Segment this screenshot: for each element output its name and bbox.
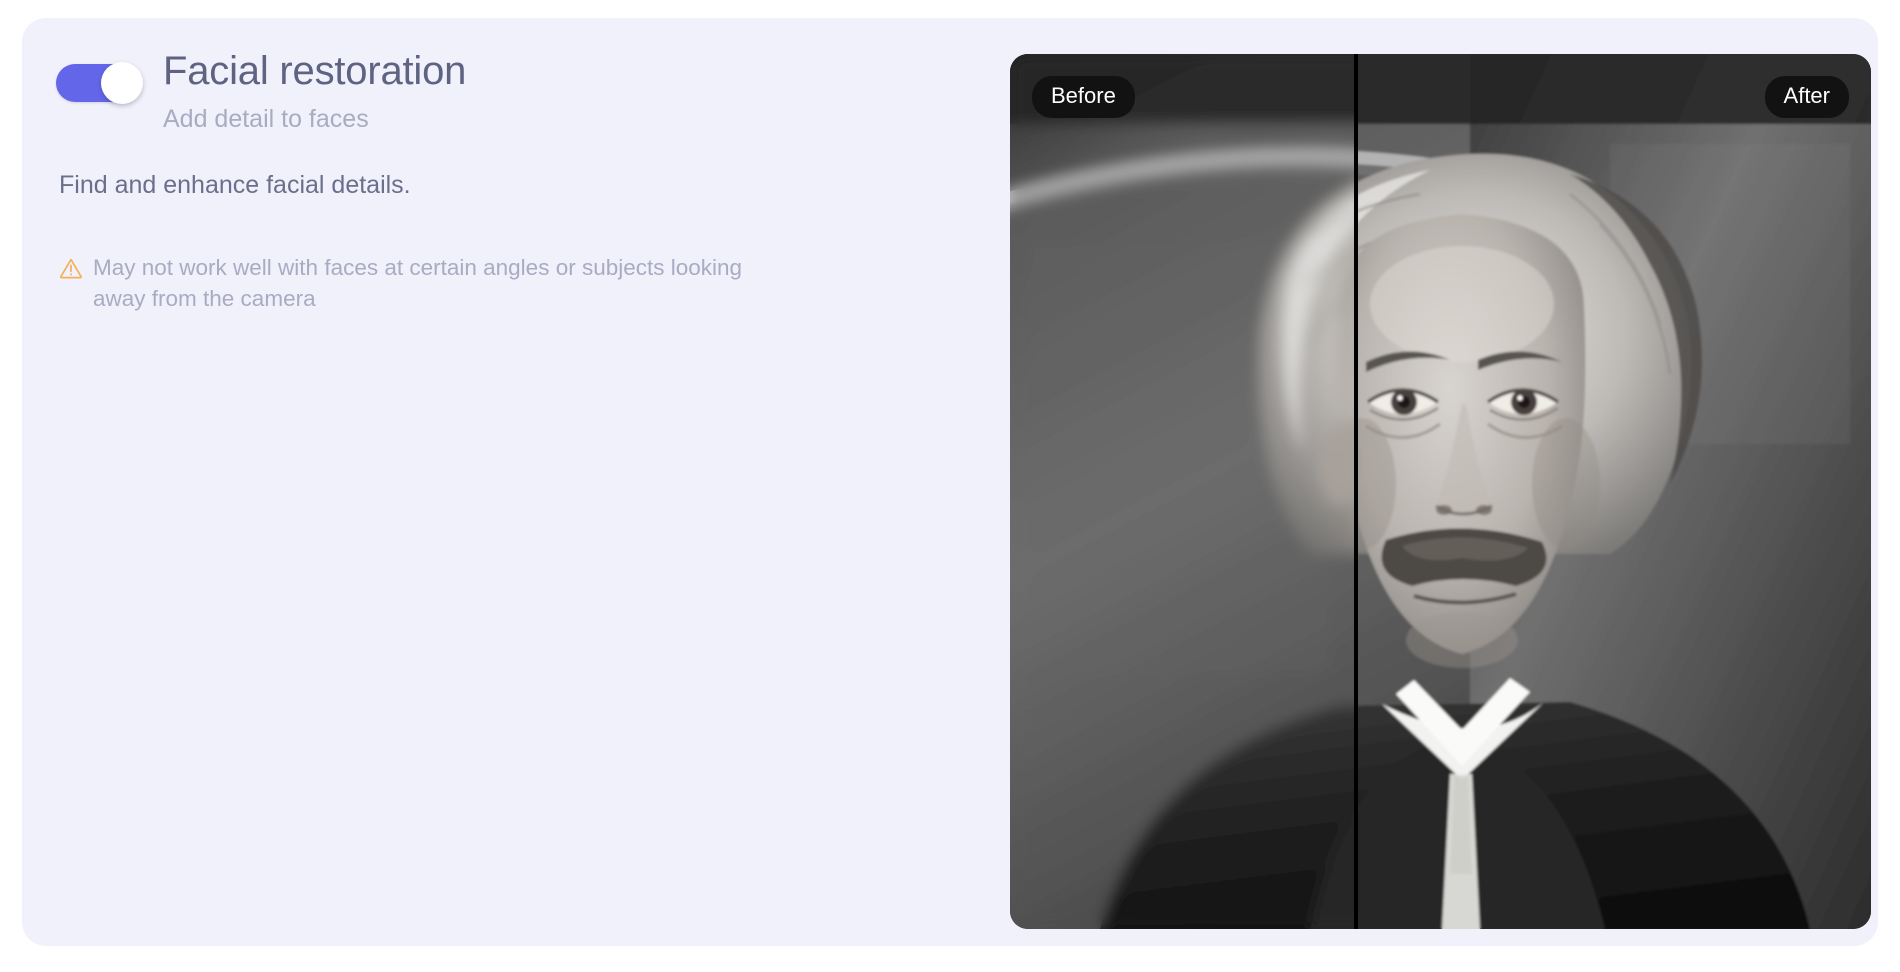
page-title: Facial restoration (163, 48, 466, 94)
facial-restoration-toggle[interactable] (56, 64, 141, 102)
warning-text: May not work well with faces at certain … (93, 252, 789, 316)
feature-description: Find and enhance facial details. (59, 169, 956, 202)
title-group: Facial restoration Add detail to faces (163, 48, 466, 134)
facial-restoration-card: Facial restoration Add detail to faces F… (22, 18, 1878, 946)
settings-panel: Facial restoration Add detail to faces F… (56, 48, 956, 315)
header-row: Facial restoration Add detail to faces (56, 48, 956, 134)
after-label-badge: After (1765, 76, 1849, 118)
warning-note: May not work well with faces at certain … (59, 252, 789, 316)
toggle-knob (101, 62, 143, 104)
warning-triangle-icon (59, 257, 83, 284)
portrait-photograph (1010, 54, 1871, 929)
page-subtitle: Add detail to faces (163, 104, 466, 134)
before-label-badge: Before (1032, 76, 1135, 118)
before-after-preview[interactable]: Before After (1010, 54, 1871, 929)
